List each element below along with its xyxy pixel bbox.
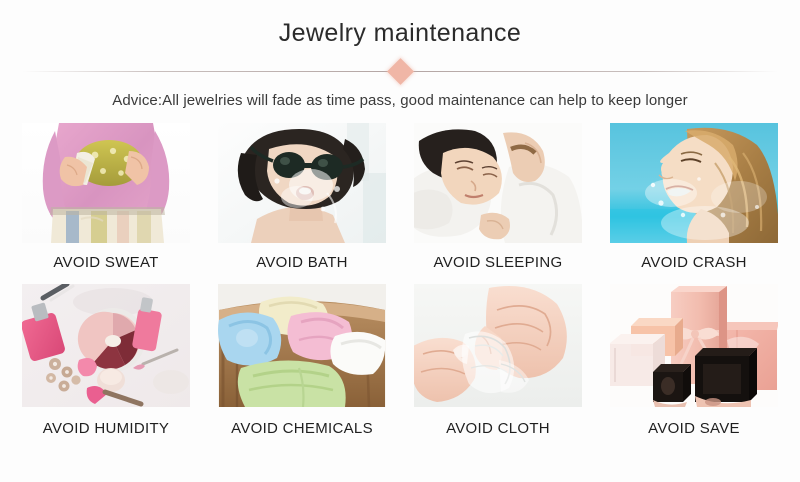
caption-avoid-chemicals: AVOID CHEMICALS xyxy=(231,420,373,438)
caption-avoid-bath: AVOID BATH xyxy=(256,254,348,272)
grid-item-avoid-bath[interactable]: AVOID BATH xyxy=(218,123,386,272)
folded-towels-basket-photo xyxy=(218,284,386,407)
grid-item-avoid-save[interactable]: AVOID SAVE xyxy=(610,284,778,438)
cosmetics-flatlay-photo xyxy=(22,284,190,407)
hands-plastic-bag-photo xyxy=(414,284,582,407)
woman-water-spray-photo xyxy=(610,123,778,243)
caption-avoid-humidity: AVOID HUMIDITY xyxy=(43,420,169,438)
divider xyxy=(0,58,800,84)
header: Jewelry maintenance Advice:All jewelries… xyxy=(0,0,800,111)
grid-item-avoid-sleeping[interactable]: AVOID SLEEPING xyxy=(414,123,582,272)
caption-avoid-sweat: AVOID SWEAT xyxy=(53,254,158,272)
grid-item-avoid-chemicals[interactable]: AVOID CHEMICALS xyxy=(218,284,386,438)
caption-avoid-sleeping: AVOID SLEEPING xyxy=(434,254,563,272)
jewelry-maintenance-infographic: Jewelry maintenance Advice:All jewelries… xyxy=(0,0,800,482)
pink-jewelry-boxes-photo xyxy=(610,284,778,407)
woman-holding-pouch-photo xyxy=(22,123,190,243)
woman-sleeping-pillow-photo xyxy=(414,123,582,243)
maintenance-grid-row-1: AVOID SWEAT xyxy=(0,123,800,272)
diamond-icon xyxy=(387,58,414,85)
grid-item-avoid-humidity[interactable]: AVOID HUMIDITY xyxy=(22,284,190,438)
caption-avoid-crash: AVOID CRASH xyxy=(641,254,747,272)
page-title: Jewelry maintenance xyxy=(0,18,800,48)
grid-item-avoid-sweat[interactable]: AVOID SWEAT xyxy=(22,123,190,272)
advice-text: Advice:All jewelries will fade as time p… xyxy=(0,91,800,111)
caption-avoid-save: AVOID SAVE xyxy=(648,420,740,438)
caption-avoid-cloth: AVOID CLOTH xyxy=(446,420,550,438)
woman-showering-goggles-photo xyxy=(218,123,386,243)
maintenance-grid-row-2: AVOID HUMIDITY xyxy=(0,284,800,438)
grid-item-avoid-crash[interactable]: AVOID CRASH xyxy=(610,123,778,272)
grid-item-avoid-cloth[interactable]: AVOID CLOTH xyxy=(414,284,582,438)
